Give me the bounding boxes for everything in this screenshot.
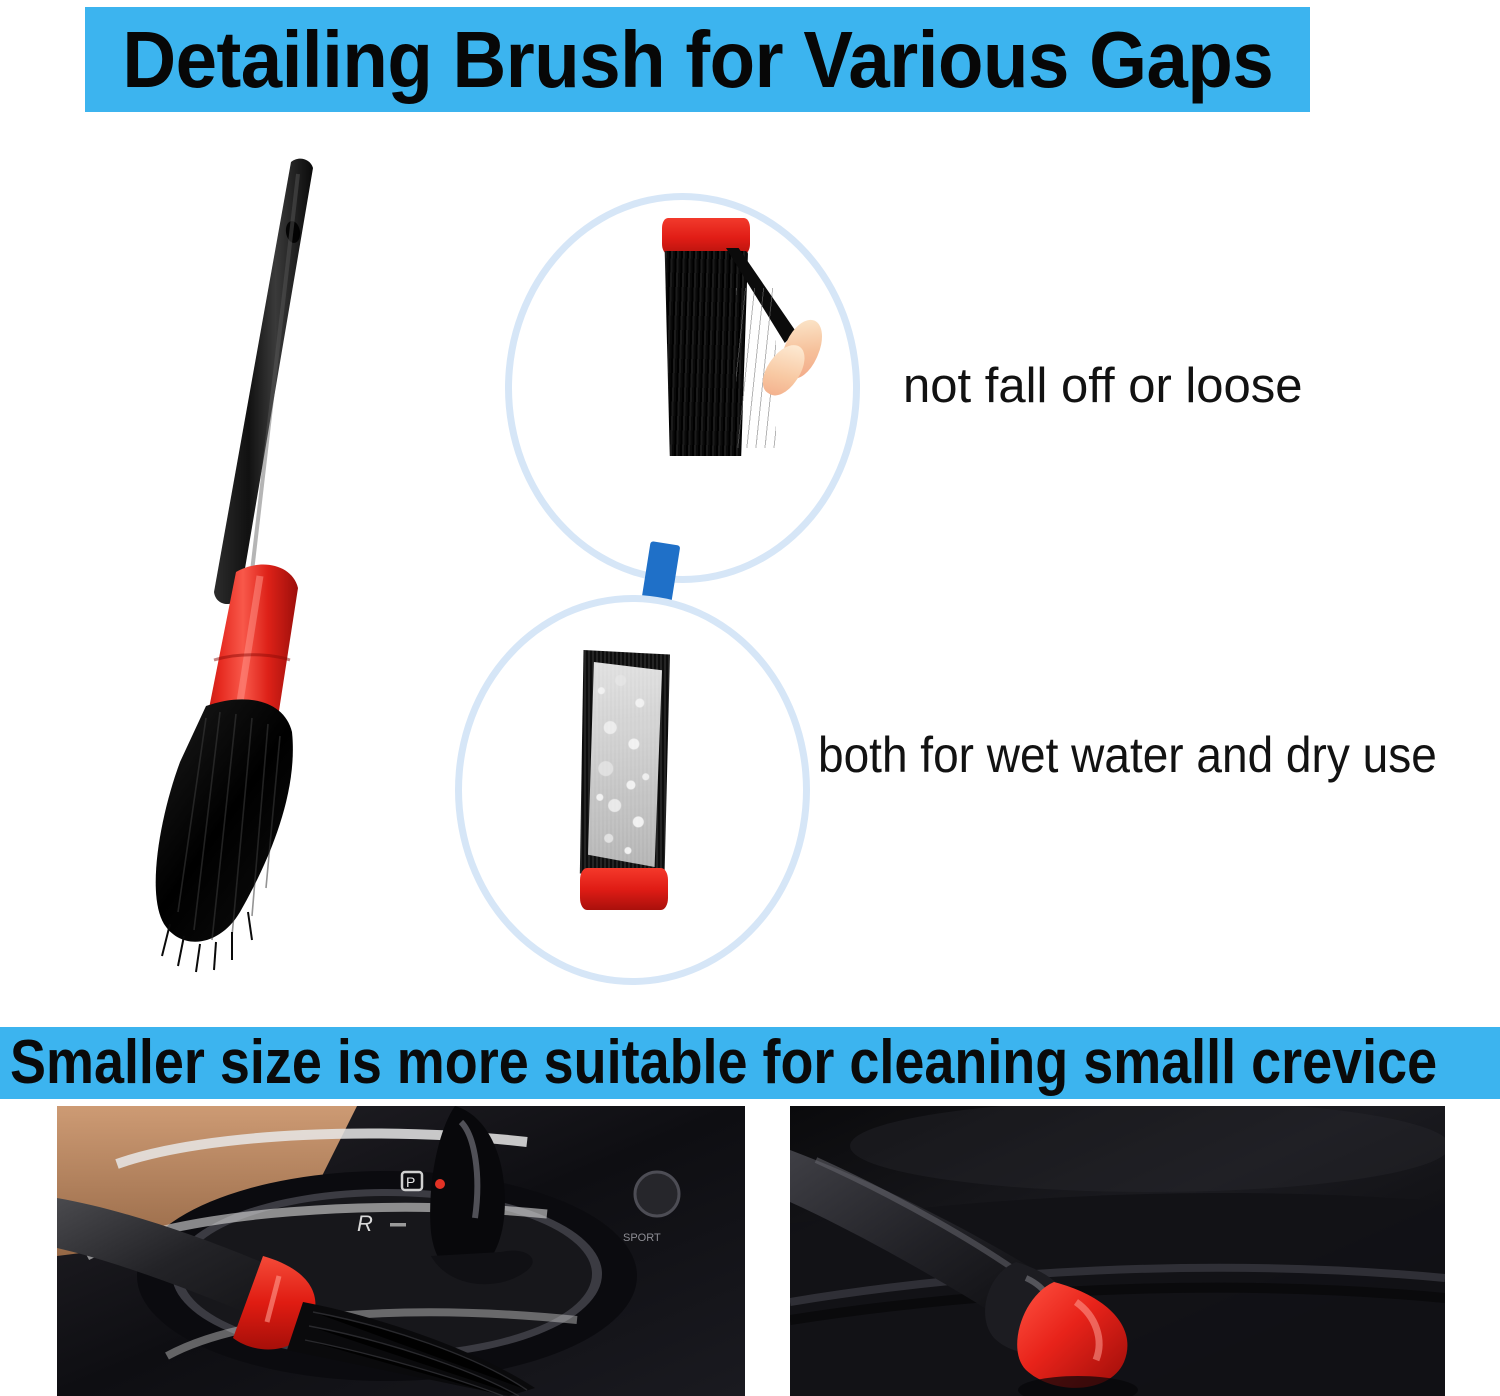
infographic-canvas: Detailing Brush for Various Gaps (0, 0, 1500, 1396)
page-title: Detailing Brush for Various Gaps (122, 20, 1273, 100)
brush-handle (214, 159, 313, 604)
brush-illustration (120, 140, 450, 980)
photo-gear-console: P R L SPORT (57, 1106, 745, 1396)
callout-caption-wet-dry: both for wet water and dry use (818, 730, 1437, 780)
svg-text:P: P (406, 1174, 415, 1190)
brush-head-foamy (568, 650, 683, 915)
gear-console-scene: P R L SPORT (57, 1106, 745, 1396)
interior-seam-scene (790, 1106, 1445, 1396)
bottom-banner-text: Smaller size is more suitable for cleani… (10, 1032, 1437, 1094)
callout-caption-no-shed: not fall off or loose (903, 362, 1303, 411)
hero-brush-image (120, 140, 450, 980)
title-banner: Detailing Brush for Various Gaps (85, 7, 1310, 112)
soap-foam (588, 662, 662, 867)
brush-head-no-shed (640, 218, 755, 463)
svg-text:R: R (357, 1211, 373, 1236)
svg-text:SPORT: SPORT (623, 1232, 661, 1244)
photo-interior-seam (790, 1106, 1445, 1396)
bottom-banner: Smaller size is more suitable for cleani… (0, 1027, 1500, 1099)
ferrule-icon (580, 868, 668, 910)
